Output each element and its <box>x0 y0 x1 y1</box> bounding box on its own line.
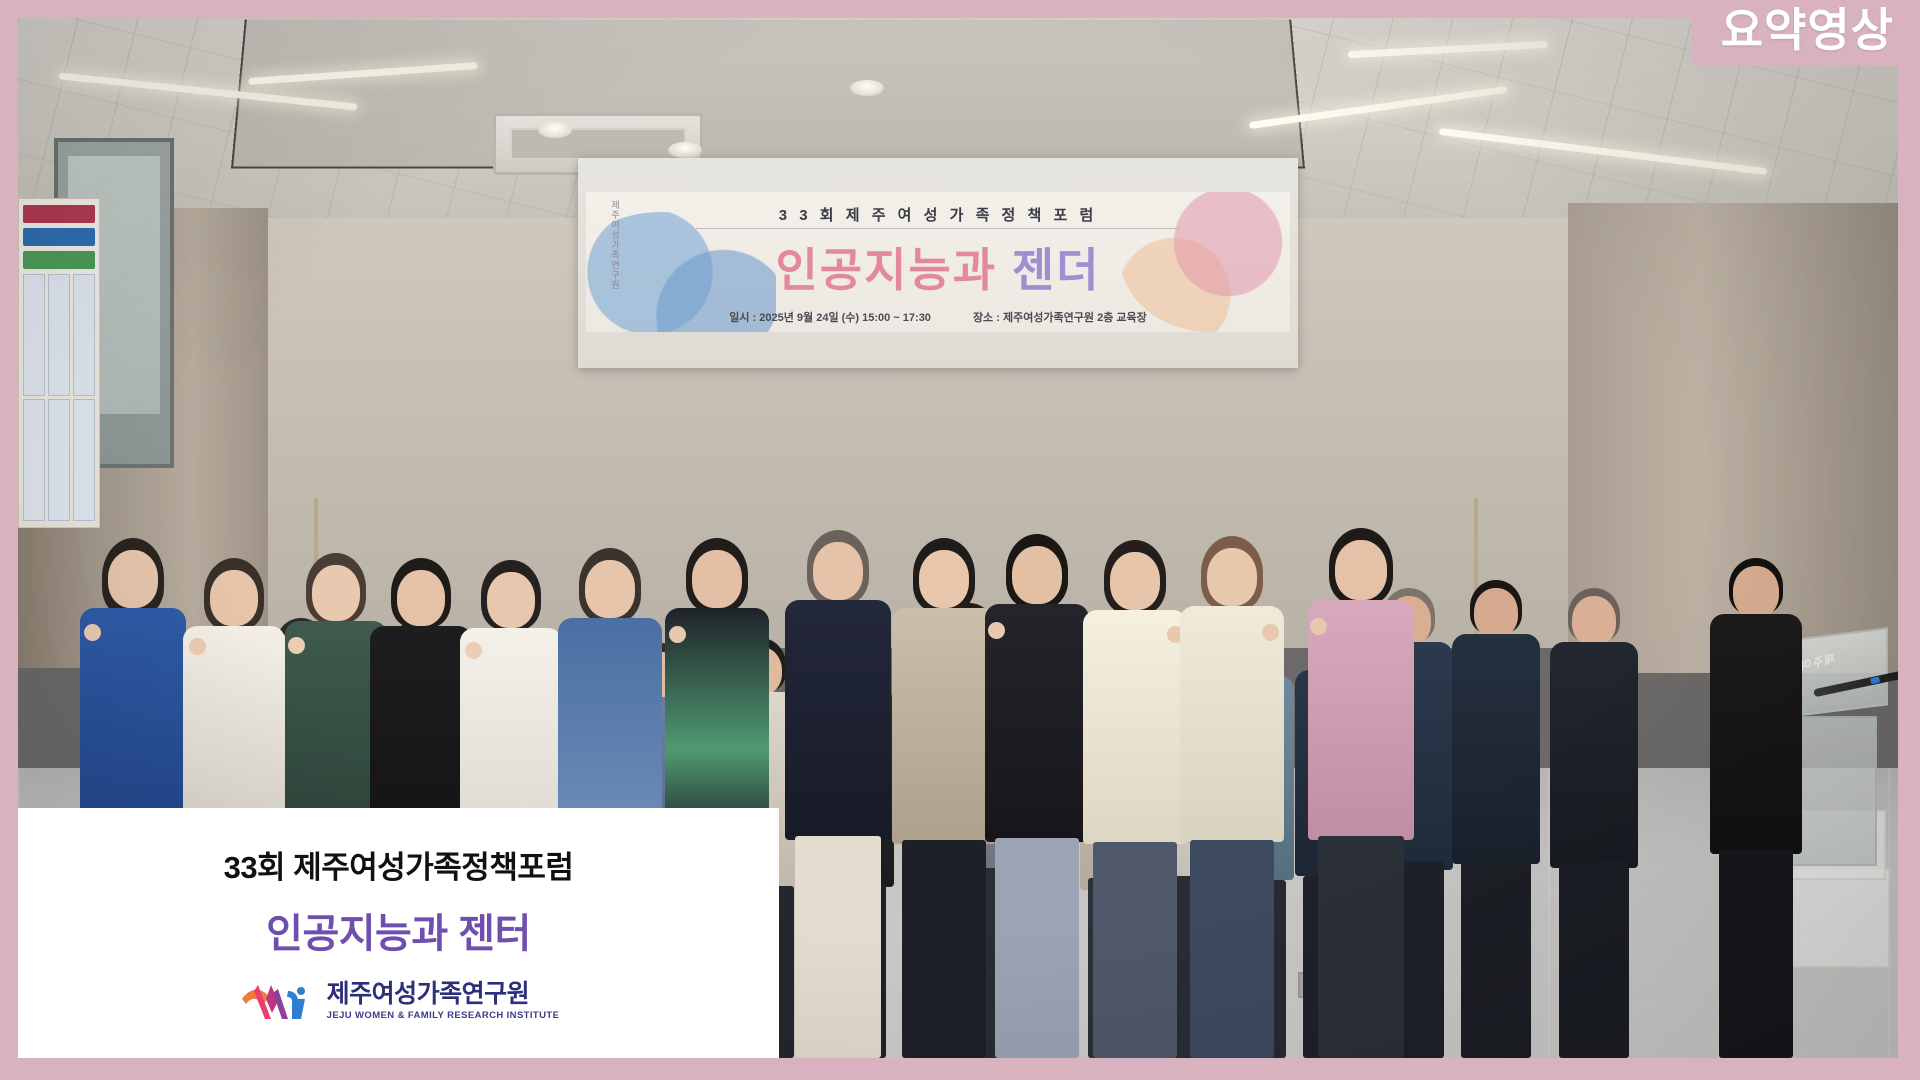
torso <box>1452 634 1540 864</box>
attendee <box>1306 528 1416 1058</box>
summary-video-badge[interactable]: 요약영상 <box>1691 0 1920 66</box>
banner-venue: 장소 : 제주여성가족연구원 2층 교육장 <box>973 309 1147 325</box>
torso <box>892 608 996 844</box>
head <box>1207 548 1257 606</box>
attendee <box>783 530 893 1058</box>
head <box>1012 546 1062 604</box>
attendee <box>983 534 1091 1058</box>
institute-name-kr: 제주여성가족연구원 <box>327 982 560 1007</box>
attendee <box>1708 558 1804 1058</box>
caption-card: 33회 제주여성가족정책포럼 인공지능과 젠터 제주여성가족연구원 JEJU W… <box>18 808 779 1058</box>
torso <box>985 604 1089 842</box>
attendee <box>1548 588 1640 1058</box>
legs <box>1719 850 1793 1058</box>
head <box>1110 552 1160 610</box>
ceiling-recess <box>231 19 1305 168</box>
summary-video-badge-label: 요약영상 <box>1721 6 1894 54</box>
poster-cell <box>23 399 45 521</box>
legs <box>995 838 1079 1058</box>
caption-forum-name: 33회 제주여성가족정책포럼 <box>224 842 574 887</box>
legs <box>1093 842 1177 1058</box>
legs <box>1461 858 1531 1058</box>
banner-title: 인공지능과 젠더 <box>586 234 1290 300</box>
raised-fist <box>1310 618 1327 635</box>
head <box>210 570 258 626</box>
raised-fist <box>669 626 686 643</box>
legs <box>1559 862 1629 1058</box>
poster-cell <box>48 399 70 521</box>
head <box>397 570 445 626</box>
torso <box>1083 610 1187 844</box>
institute-name-en: JEJU WOMEN & FAMILY RESEARCH INSTITUTE <box>327 1011 560 1021</box>
ceiling-spotlight <box>668 142 702 158</box>
poster-bar <box>23 251 95 269</box>
raised-fist <box>988 622 1005 639</box>
head <box>108 550 158 608</box>
head <box>813 542 863 600</box>
raised-fist <box>288 637 305 654</box>
banner-footer: 일시 : 2025년 9월 24일 (수) 15:00 ~ 17:30 장소 :… <box>586 309 1290 325</box>
head <box>487 572 535 628</box>
head <box>585 560 635 618</box>
poster-cell <box>48 274 70 396</box>
banner-title-part1: 인공지능과 <box>775 244 997 296</box>
torso <box>1550 642 1638 868</box>
banner-subtitle: 3 3 회 제 주 여 성 가 족 정 책 포 럼 <box>586 204 1290 225</box>
legs <box>902 840 986 1058</box>
banner-datetime: 일시 : 2025년 9월 24일 (수) 15:00 ~ 17:30 <box>729 309 931 325</box>
poster-bar <box>23 205 95 223</box>
poster-grid <box>23 274 95 521</box>
head <box>1572 596 1616 646</box>
head <box>919 550 969 608</box>
legs <box>1318 836 1404 1058</box>
poster-bar <box>23 228 95 246</box>
attendee <box>1450 580 1542 1058</box>
poster-cell <box>73 274 95 396</box>
torso <box>1180 606 1284 842</box>
head <box>1335 540 1387 600</box>
head <box>692 550 742 608</box>
institute-logo-text: 제주여성가족연구원 JEJU WOMEN & FAMILY RESEARCH I… <box>327 982 560 1021</box>
legs <box>795 836 881 1058</box>
torso <box>1710 614 1802 854</box>
institute-logo: 제주여성가족연구원 JEJU WOMEN & FAMILY RESEARCH I… <box>238 979 560 1025</box>
poster-cell <box>73 399 95 521</box>
head <box>1474 588 1518 638</box>
forum-banner: 제주여성가족연구원 3 3 회 제 주 여 성 가 족 정 책 포 럼 인공지능… <box>586 192 1290 332</box>
raised-fist <box>84 624 101 641</box>
projection-screen: 제주여성가족연구원 3 3 회 제 주 여 성 가 족 정 책 포 럼 인공지능… <box>578 158 1298 368</box>
raised-fist <box>189 638 206 655</box>
head <box>1733 566 1779 618</box>
ceiling-spotlight <box>850 80 884 96</box>
head <box>312 565 360 621</box>
caption-forum-topic: 인공지능과 젠터 <box>266 901 531 959</box>
attendee <box>1178 536 1286 1058</box>
legs <box>1190 840 1274 1058</box>
jwfi-logo-mark <box>238 979 316 1025</box>
raised-fist <box>465 642 482 659</box>
banner-title-part2: 젠더 <box>1012 244 1101 296</box>
raised-fist <box>1262 624 1279 641</box>
ceiling-spotlight <box>538 122 572 138</box>
pink-frame: 제주여성가족연구원 3 3 회 제 주 여 성 가 족 정 책 포 럼 인공지능… <box>0 0 1920 1080</box>
wall-poster <box>18 198 100 528</box>
torso <box>1308 600 1414 840</box>
banner-divider <box>696 228 1180 229</box>
poster-cell <box>23 274 45 396</box>
torso <box>785 600 891 840</box>
attendee <box>1081 540 1189 1058</box>
attendee <box>890 538 998 1058</box>
